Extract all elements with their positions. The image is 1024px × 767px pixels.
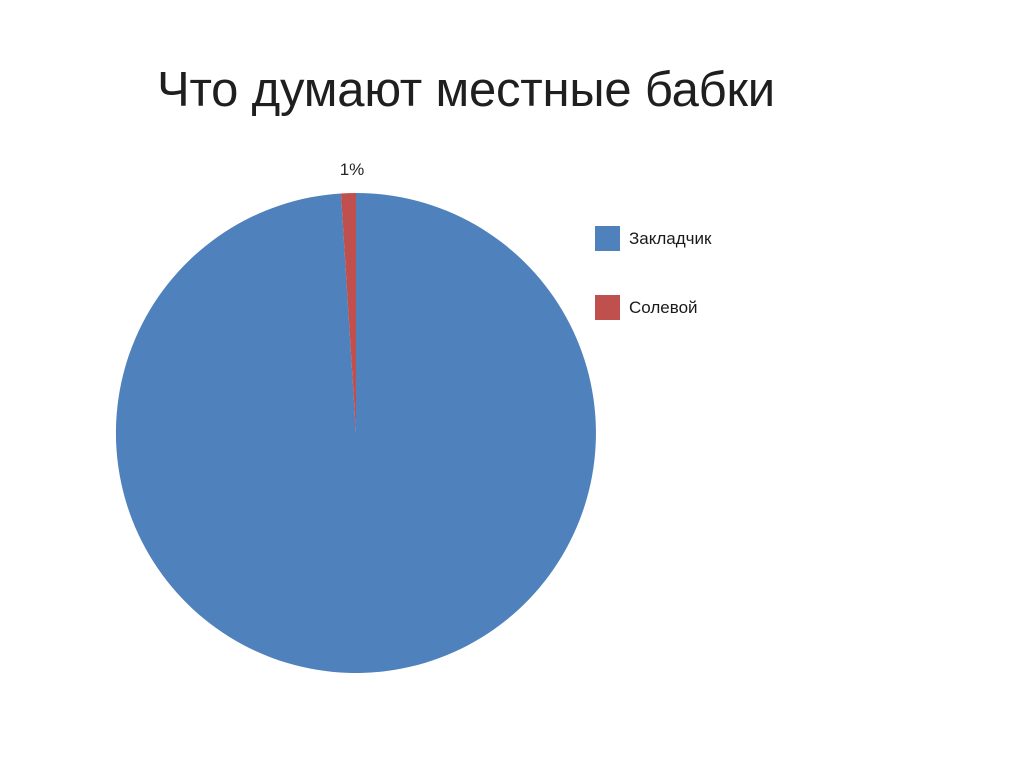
legend-label-zakladchik: Закладчик	[629, 230, 711, 247]
data-label-zakladchik: 99%	[426, 701, 518, 718]
page-title: Что думают местные бабки	[0, 66, 932, 115]
data-label-solevoy: 1%	[316, 161, 388, 178]
legend-swatch-solevoy	[595, 295, 620, 320]
legend-item-zakladchik[interactable]: Закладчик	[595, 226, 711, 251]
legend-item-solevoy[interactable]: Солевой	[595, 295, 698, 320]
legend-swatch-zakladchik	[595, 226, 620, 251]
pie-chart-svg	[116, 193, 596, 673]
pie-chart-plot-area: 99%	[116, 193, 596, 673]
chart-slide: Что думают местные бабки 99% 1% Закладчи…	[0, 0, 1024, 767]
legend-label-solevoy: Солевой	[629, 299, 698, 316]
